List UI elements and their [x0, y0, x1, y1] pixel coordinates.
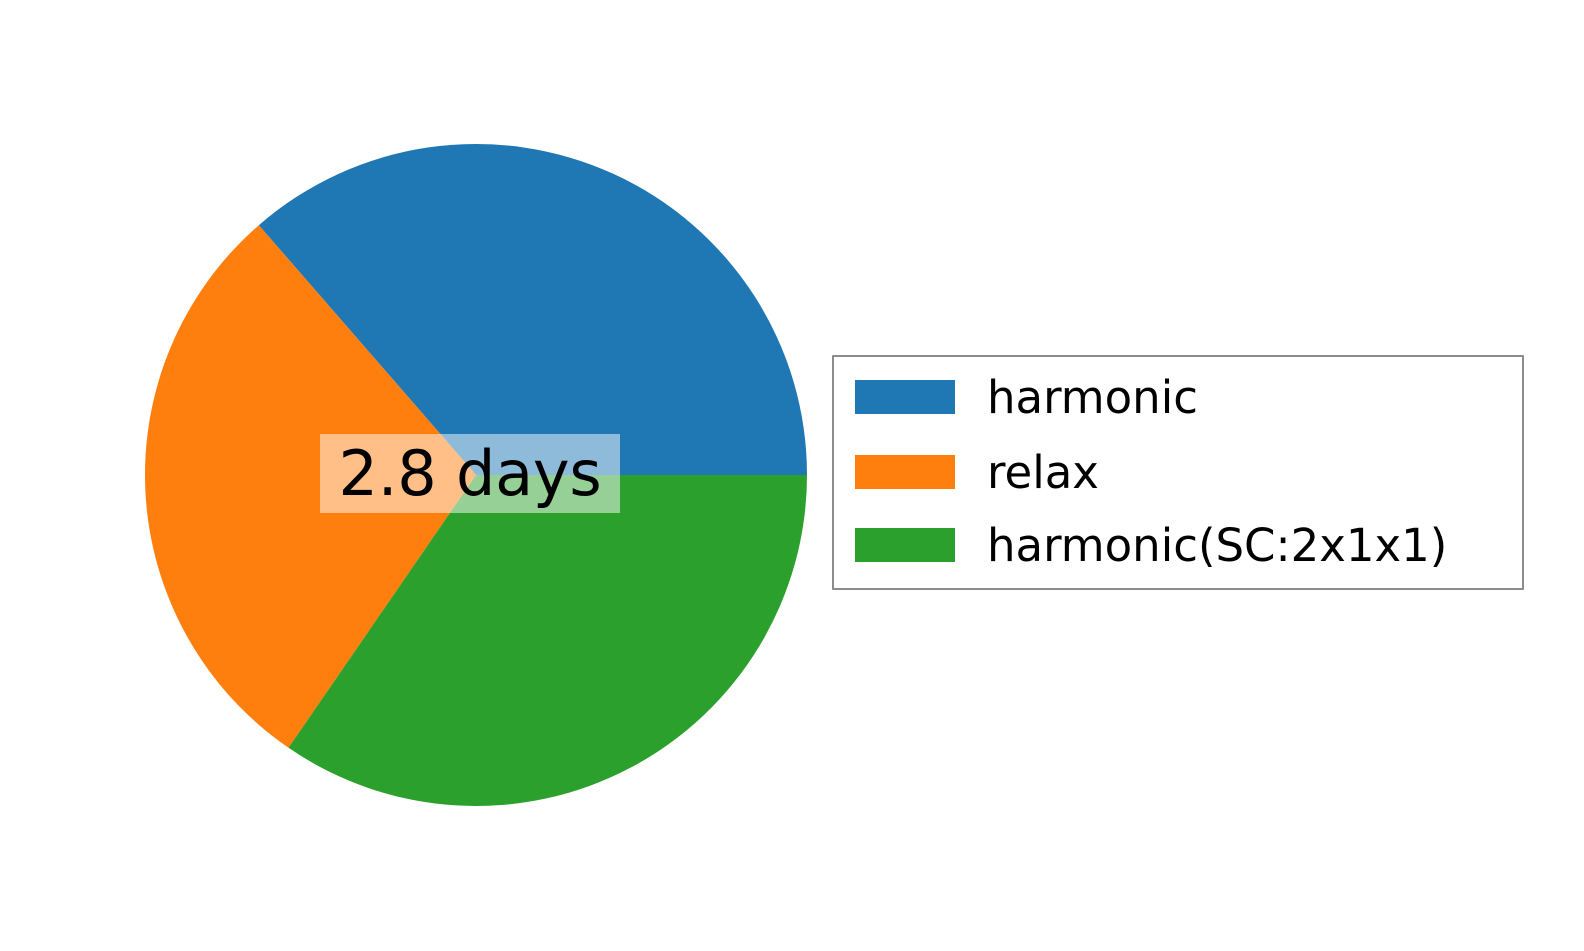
legend-label-harmonic-sc: harmonic(SC:2x1x1) — [987, 523, 1447, 568]
legend-item-harmonic[interactable]: harmonic — [855, 380, 1198, 414]
legend-swatch-harmonic — [855, 380, 955, 414]
legend-label-harmonic: harmonic — [987, 375, 1198, 420]
legend-swatch-harmonic-sc — [855, 528, 955, 562]
chart-legend: harmonic relax harmonic(SC:2x1x1) — [832, 355, 1524, 590]
pie-center-label: 2.8 days — [320, 434, 620, 513]
chart-figure: 2.8 days harmonic relax harmonic(SC:2x1x… — [0, 0, 1584, 951]
legend-label-relax: relax — [987, 450, 1099, 495]
legend-swatch-relax — [855, 455, 955, 489]
legend-item-harmonic-sc[interactable]: harmonic(SC:2x1x1) — [855, 528, 1447, 562]
legend-item-relax[interactable]: relax — [855, 455, 1099, 489]
